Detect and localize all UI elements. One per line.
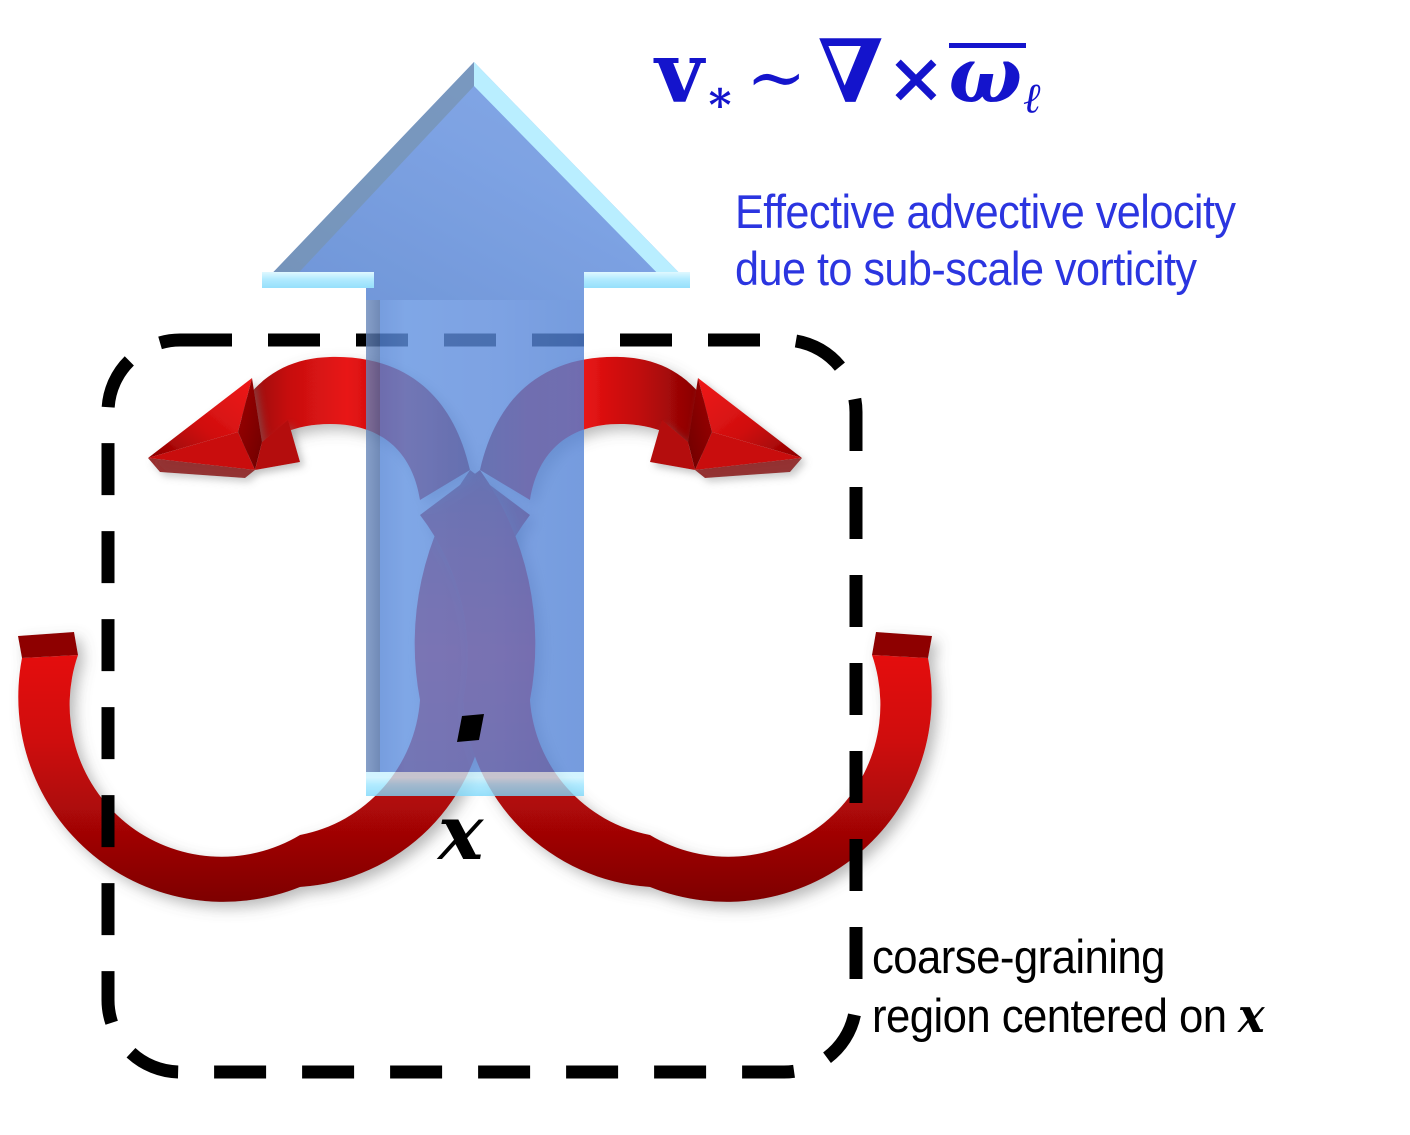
formula-nabla: ∇ [818, 20, 885, 123]
formula-vector-subscript: ∗ [705, 72, 736, 123]
blue-caption: Effective advective velocity due to sub-… [735, 183, 1235, 298]
black-caption-line-1: coarse-graining [872, 928, 1264, 987]
formula-cross: × [884, 36, 948, 119]
formula-vector-symbol: v [655, 23, 705, 122]
position-x-label: x [438, 795, 483, 871]
black-caption-line-2: region centered on x [872, 987, 1264, 1047]
blue-caption-line-1: Effective advective velocity [735, 183, 1235, 240]
blue-caption-line-2: due to sub-scale vorticity [735, 240, 1235, 297]
black-caption-x-variable: x [1238, 988, 1264, 1044]
formula-omega-bar: ω [948, 35, 1023, 114]
blue-effective-velocity-arrow [262, 62, 690, 796]
black-caption-line-2-text: region centered on [872, 989, 1238, 1042]
formula-omega-subscript: ℓ [1023, 74, 1042, 123]
formula-effective-velocity: v∗∼∇×ωℓ [655, 28, 1042, 120]
black-caption: coarse-graining region centered on x [872, 928, 1264, 1047]
formula-relation: ∼ [736, 36, 818, 120]
diagram-canvas: v∗∼∇×ωℓ Effective advective velocity due… [0, 0, 1410, 1135]
